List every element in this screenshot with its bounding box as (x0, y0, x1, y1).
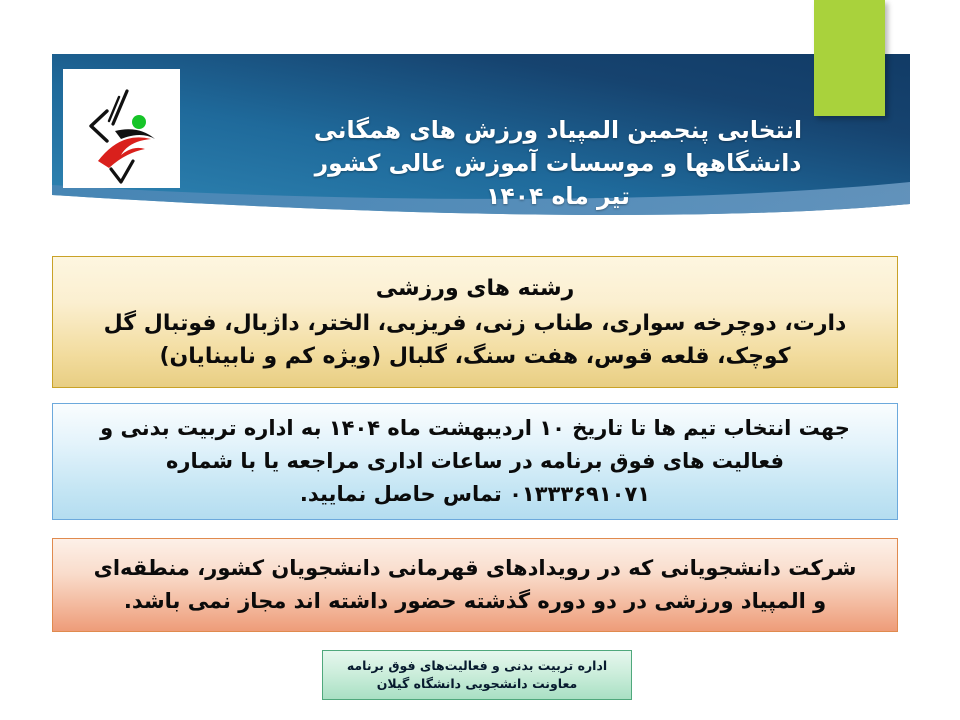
title-line-2: دانشگاهها و موسسات آموزش عالی کشور (238, 147, 878, 180)
sports-disciplines-box: رشته های ورزشی دارت، دوچرخه سواری، طناب … (52, 256, 898, 388)
sports-box-heading: رشته های ورزشی (63, 272, 887, 305)
eligibility-restriction-box: شرکت دانشجویانی که در رویدادهای قهرمانی … (52, 538, 898, 632)
footer-signature-box: اداره تربیت بدنی و فعالیت‌های فوق برنامه… (322, 650, 632, 700)
registration-line-3-phone: ۰۱۳۳۳۶۹۱۰۷۱ تماس حاصل نمایید. (63, 478, 887, 511)
footer-line-2: معاونت دانشجویی دانشگاه گیلان (329, 675, 625, 693)
athlete-figure-icon (63, 69, 180, 188)
title-line-1: انتخابی پنجمین المپیاد ورزش های همگانی (238, 114, 878, 147)
sports-box-line-2: کوچک، قلعه قوس، هفت سنگ، گلبال (ویژه کم … (63, 340, 887, 373)
accent-green-block (814, 0, 885, 116)
organization-logo (63, 69, 180, 188)
registration-line-1: جهت انتخاب تیم ها تا تاریخ ۱۰ اردیبهشت م… (63, 412, 887, 445)
title-line-3: تیر ماه ۱۴۰۴ (238, 180, 878, 213)
restriction-line-2: و المپیاد ورزشی در دو دوره گذشته حضور دا… (63, 585, 887, 618)
footer-line-1: اداره تربیت بدنی و فعالیت‌های فوق برنامه (329, 657, 625, 675)
registration-info-box: جهت انتخاب تیم ها تا تاریخ ۱۰ اردیبهشت م… (52, 403, 898, 520)
restriction-line-1: شرکت دانشجویانی که در رویدادهای قهرمانی … (63, 552, 887, 585)
header-banner: انتخابی پنجمین المپیاد ورزش های همگانی د… (52, 54, 910, 220)
sports-box-line-1: دارت، دوچرخه سواری، طناب زنی، فریزبی، ال… (63, 307, 887, 340)
poster-canvas: انتخابی پنجمین المپیاد ورزش های همگانی د… (0, 0, 960, 720)
registration-line-2: فعالیت های فوق برنامه در ساعات اداری مرا… (63, 445, 887, 478)
poster-title: انتخابی پنجمین المپیاد ورزش های همگانی د… (238, 114, 878, 213)
